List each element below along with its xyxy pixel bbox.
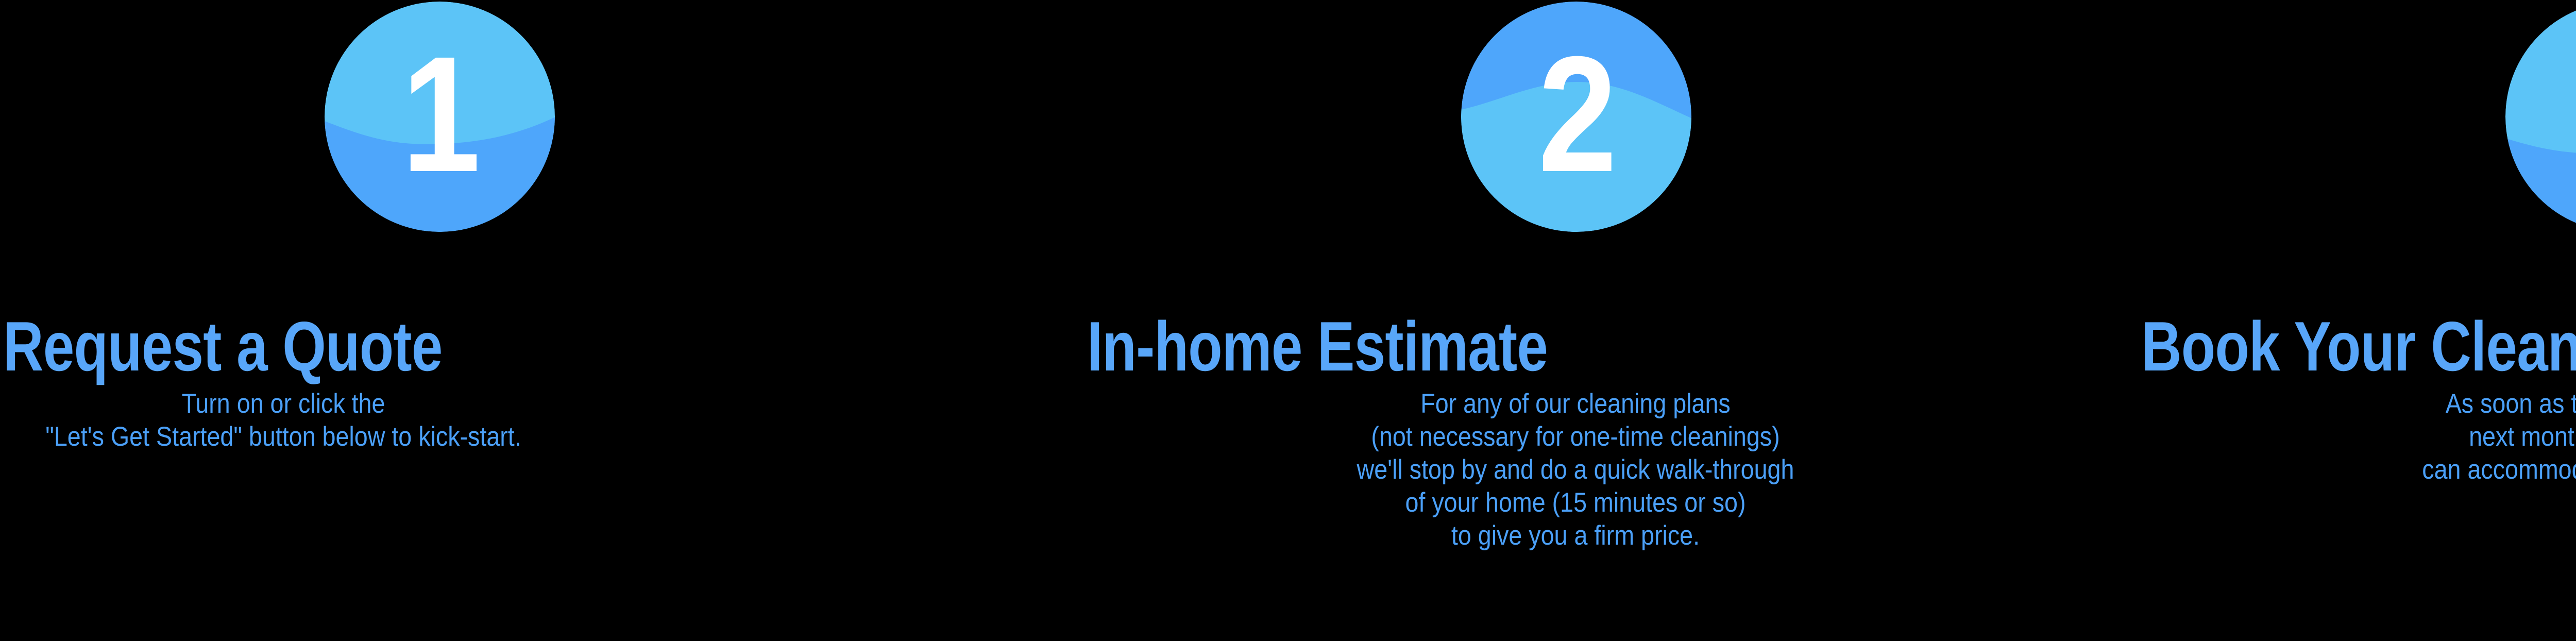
step-description-1: Turn on or click the "Let's Get Started"… [34, 387, 533, 453]
step-badge-2: 2 [1461, 2, 1691, 232]
step-description-line: of your home (15 minutes or so) [1131, 486, 2020, 519]
step-description-line: Turn on or click the [34, 387, 533, 420]
step-number-label: 2 [1477, 2, 1675, 232]
step-description-line: For any of our cleaning plans [1131, 387, 2020, 420]
step-description-line: (not necessary for one-time cleanings) [1131, 420, 2020, 453]
step-title-2: In-home Estimate [1087, 311, 1548, 381]
how-it-works-banner: 1 Request a Quote Turn on or click the "… [0, 0, 2576, 641]
step-description-2: For any of our cleaning plans (not neces… [1131, 387, 2020, 552]
step-card-2: 2 In-home Estimate For any of our cleani… [1009, 0, 2142, 641]
step-card-3: 3 Book Your Cleaning As soon as tomorrow… [2112, 0, 2576, 641]
step-title-3: Book Your Cleaning [2141, 311, 2576, 381]
step-description-line: next month, it is likely we [2194, 420, 2576, 453]
step-description-line: we'll stop by and do a quick walk-throug… [1131, 453, 2020, 486]
step-badge-1: 1 [325, 2, 555, 232]
step-badge-3: 3 [2505, 2, 2576, 232]
step-description-line: to give you a firm price. [1131, 519, 2020, 552]
step-title-1: Request a Quote [3, 311, 443, 381]
step-description-line: can accommodate your schedule. [2194, 453, 2576, 486]
step-description-3: As soon as tomorrow or even next month, … [2194, 387, 2576, 486]
step-description-line: As soon as tomorrow or even [2194, 387, 2576, 420]
step-number-label: 3 [2521, 2, 2576, 232]
step-number-label: 1 [341, 2, 538, 232]
step-description-line: "Let's Get Started" button below to kick… [34, 420, 533, 453]
step-card-1: 1 Request a Quote Turn on or click the "… [0, 0, 845, 641]
